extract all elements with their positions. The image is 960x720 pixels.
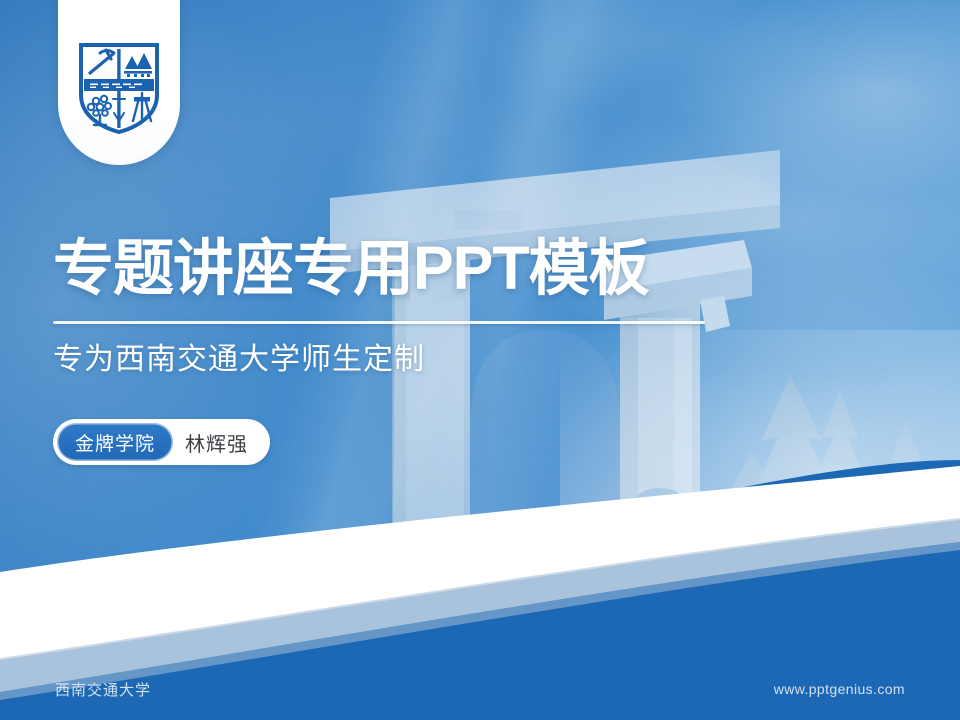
badge-author-name: 林辉强	[181, 428, 248, 457]
footer-university-name: 西南交通大学	[55, 679, 151, 700]
logo-banner	[58, 0, 180, 165]
page-title: 专题讲座专用PPT模板	[53, 238, 753, 299]
university-crest-icon	[76, 39, 162, 135]
footer-website[interactable]: www.pptgenius.com	[774, 681, 905, 697]
title-divider	[53, 321, 705, 324]
presentation-slide: 专题讲座专用PPT模板 专为西南交通大学师生定制 金牌学院 林辉强 西南交通大学…	[0, 0, 960, 720]
author-badge: 金牌学院 林辉强	[53, 419, 270, 465]
badge-tag: 金牌学院	[57, 423, 173, 461]
title-block: 专题讲座专用PPT模板 专为西南交通大学师生定制	[53, 238, 753, 375]
page-subtitle: 专为西南交通大学师生定制	[53, 345, 753, 375]
